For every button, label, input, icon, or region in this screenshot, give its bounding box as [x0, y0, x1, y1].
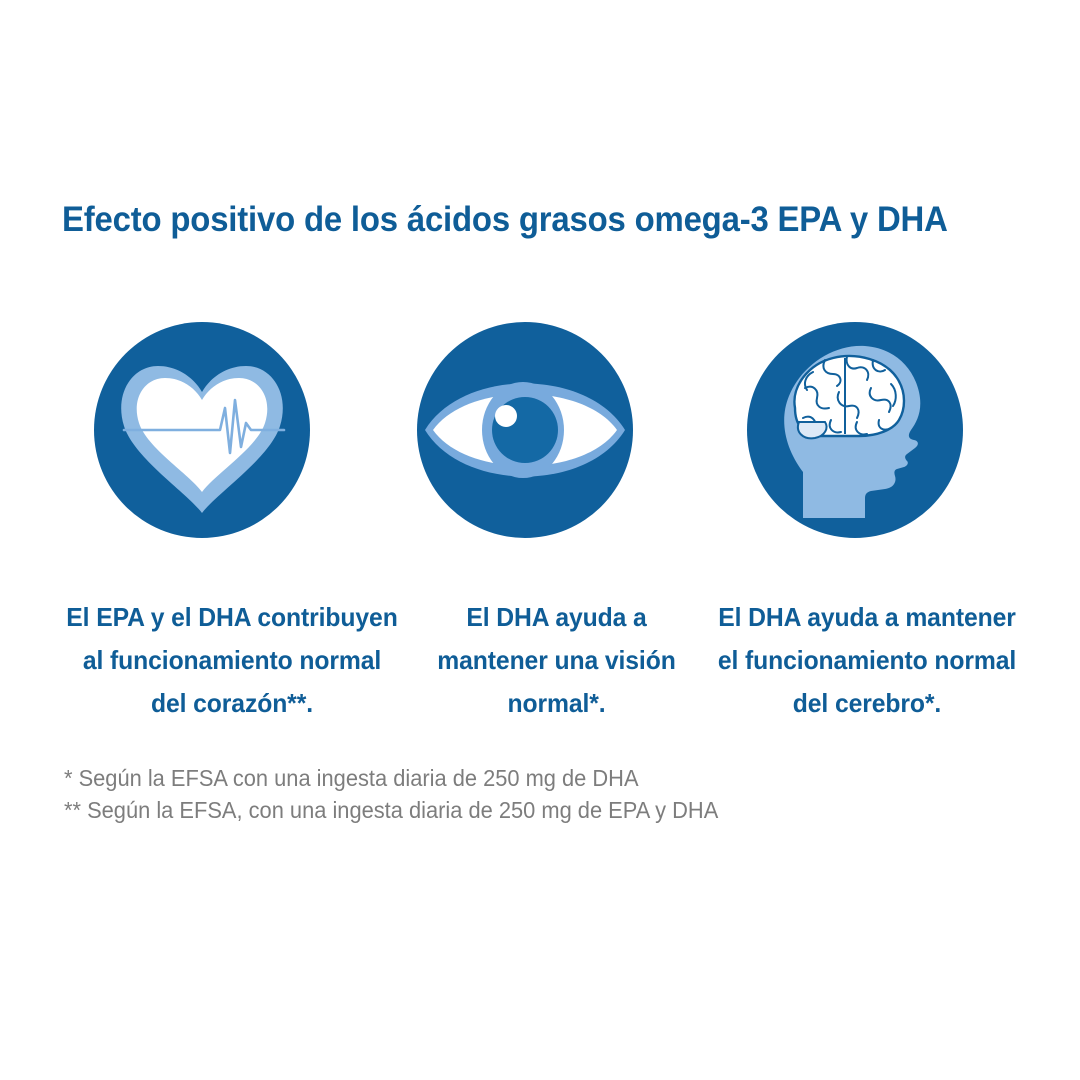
caption-line: del corazón**. — [48, 682, 417, 725]
benefit-caption-eye: El DHA ayuda a mantener una visión norma… — [425, 596, 688, 725]
caption-line: El DHA ayuda a mantener — [701, 596, 1034, 639]
footnote-single-asterisk: * Según la EFSA con una ingesta diaria d… — [64, 762, 919, 794]
infographic-poster: Efecto positivo de los ácidos grasos ome… — [0, 0, 1080, 1080]
benefit-icon-heart — [94, 322, 310, 538]
brain-head-icon — [747, 322, 963, 538]
benefit-caption-brain: El DHA ayuda a mantener el funcionamient… — [692, 596, 1042, 725]
benefit-caption-heart: El EPA y el DHA contribuyen al funcionam… — [38, 596, 426, 725]
footnotes: * Según la EFSA con una ingesta diaria d… — [64, 762, 964, 826]
caption-line: El EPA y el DHA contribuyen — [48, 596, 417, 639]
page-title: Efecto positivo de los ácidos grasos ome… — [62, 199, 983, 241]
footnote-double-asterisk: ** Según la EFSA, con una ingesta diaria… — [64, 794, 919, 826]
caption-line: El DHA ayuda a — [432, 596, 682, 639]
heart-ekg-icon — [94, 322, 310, 538]
caption-line: al funcionamiento normal — [48, 639, 417, 682]
caption-line: normal*. — [432, 682, 682, 725]
eye-icon — [417, 322, 633, 538]
caption-line: el funcionamiento normal — [701, 639, 1034, 682]
benefit-icon-eye — [417, 322, 633, 538]
benefit-captions: El EPA y el DHA contribuyen al funcionam… — [0, 596, 1080, 726]
benefit-icon-row — [0, 322, 1080, 547]
caption-line: mantener una visión — [432, 639, 682, 682]
benefit-icon-brain — [747, 322, 963, 538]
caption-line: del cerebro*. — [701, 682, 1034, 725]
